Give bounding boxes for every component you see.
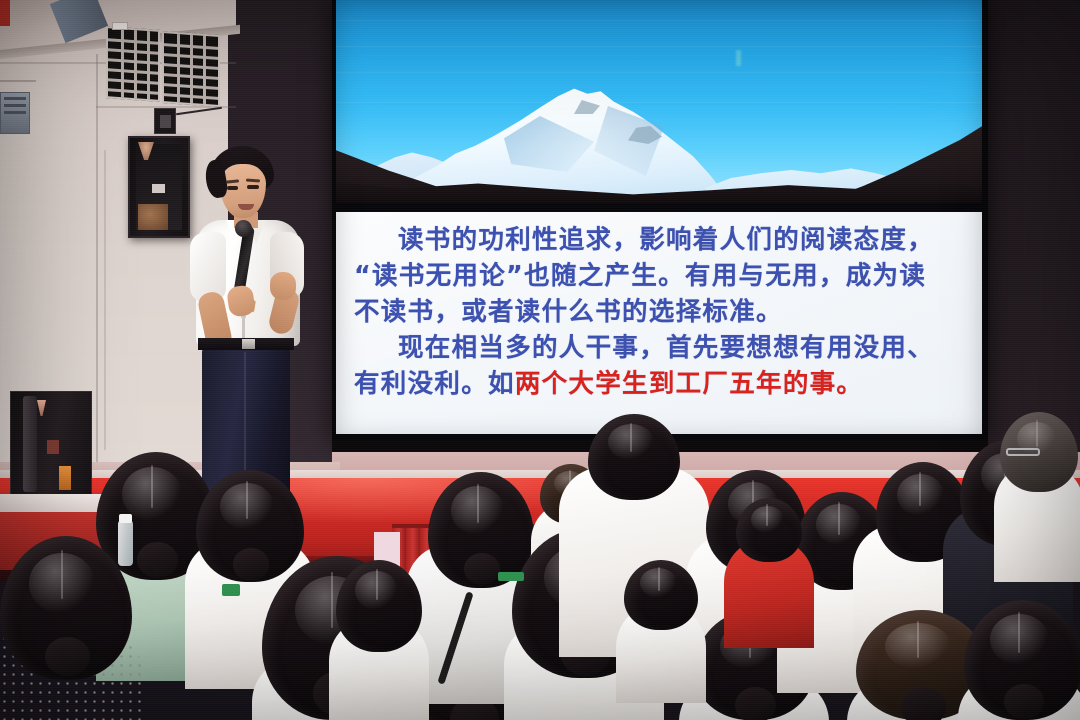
- slide-line-5-text-red: 两个大学生到工厂五年的事。: [515, 369, 863, 399]
- green-lanyard-2: [498, 572, 524, 581]
- presenter-hand-right: [270, 272, 296, 300]
- wall-seam: [96, 54, 98, 474]
- lecture-hall-photo: 读书的功利性追求，影响着人们的阅读态度， “读书无用论”也随之产生。有用与无用，…: [0, 0, 1080, 720]
- slide-line-4-text: 现在相当多的人干事，首先要想想有用没用、: [398, 333, 934, 363]
- water-bottle: [118, 520, 133, 566]
- air-conditioner-vent-2: [162, 31, 220, 107]
- hair-highlight: [816, 504, 862, 545]
- hair-bun: [464, 553, 500, 585]
- hair-bun: [735, 687, 776, 720]
- presenter-belt-buckle: [242, 339, 255, 349]
- slide-line-1-text: 读书的功利性追求，影响着人们的阅读态度，: [398, 225, 934, 255]
- slide-line-1: 读书的功利性追求，影响着人们的阅读态度，: [354, 222, 962, 258]
- slide-line-5: 有利没利。如两个大学生到工厂五年的事。: [354, 366, 962, 402]
- slide-photo-mountain: [336, 0, 982, 203]
- tower-sticker: [59, 466, 71, 490]
- desktop-computer-tower: [10, 391, 92, 495]
- slide-line-4: 现在相当多的人干事，首先要想想有用没用、: [354, 330, 962, 366]
- white-side-table: [0, 494, 112, 514]
- presenter-eye-right: [247, 185, 259, 189]
- corner-red-marker: [0, 0, 10, 26]
- slide-line-2-text: “读书无用论”也随之产生。有用与无用，成为读: [354, 261, 926, 291]
- presenter-eye-left: [227, 186, 238, 190]
- hair-bun: [137, 542, 178, 578]
- eyeglasses: [1006, 448, 1040, 456]
- wall-electrical-box: [0, 92, 30, 134]
- slide-line-5-text-blue: 有利没利。如: [354, 369, 515, 399]
- air-conditioner-vent: [106, 26, 160, 102]
- presenter-sleeve-left: [190, 232, 226, 302]
- slide-line-3: 不读书，或者读什么书的选择标准。: [354, 294, 962, 330]
- slide-text-panel: 读书的功利性追求，影响着人们的阅读态度， “读书无用论”也随之产生。有用与无用，…: [336, 212, 982, 434]
- hair-highlight: [751, 506, 784, 533]
- slide-line-2: “读书无用论”也随之产生。有用与无用，成为读: [354, 258, 962, 294]
- slide-line-3-text: 不读书，或者读什么书的选择标准。: [354, 297, 783, 327]
- wall-scuff: [0, 80, 36, 82]
- hair-highlight: [897, 474, 944, 516]
- wall-panel-line: [104, 150, 106, 450]
- vent-tab: [112, 22, 128, 30]
- speaker-mount-bracket: [154, 108, 176, 134]
- speaker-woofer: [138, 204, 168, 230]
- hair-highlight: [640, 568, 677, 597]
- speaker-brand-logo: [152, 184, 165, 193]
- hair-bun: [901, 687, 946, 720]
- hair-highlight: [220, 483, 274, 530]
- hair-bun: [233, 548, 270, 580]
- hair-highlight: [29, 553, 95, 613]
- projector-glare: [736, 50, 741, 66]
- tower-logo-icon: [37, 400, 46, 416]
- presenter: [186, 146, 314, 526]
- right-wall: [988, 0, 1080, 452]
- hair-highlight: [990, 614, 1049, 664]
- hair-highlight: [355, 571, 398, 610]
- tower-badge: [47, 440, 59, 454]
- wall-loudspeaker: [128, 136, 190, 238]
- projection-screen[interactable]: 读书的功利性追求，影响着人们的阅读态度， “读书无用论”也随之产生。有用与无用，…: [332, 0, 988, 444]
- hair-highlight: [451, 486, 504, 535]
- green-lanyard: [222, 584, 240, 596]
- water-bottle-cap: [119, 514, 132, 523]
- hair-bun: [45, 637, 90, 677]
- tower-side-panel: [23, 396, 37, 492]
